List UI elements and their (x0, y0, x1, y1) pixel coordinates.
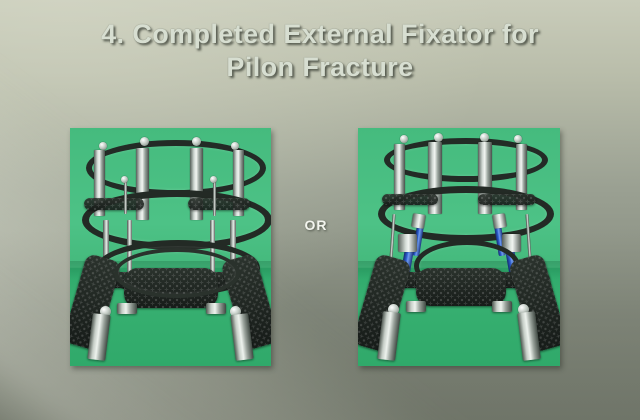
ring-bolt (514, 135, 522, 143)
right-fixator-assembly (358, 128, 560, 366)
ring-bolt (480, 133, 489, 142)
mount-block (406, 301, 426, 312)
left-figure-image (70, 128, 271, 366)
blue-strut-cap (411, 213, 426, 229)
base-arch-ring (114, 248, 240, 298)
pin-bolt (121, 176, 128, 183)
second-ring-plate (188, 198, 250, 210)
second-ring-plate (478, 194, 536, 205)
mount-block (206, 303, 226, 314)
slide-title: 4. Completed External Fixator for Pilon … (0, 18, 640, 84)
ring-bolt (434, 133, 443, 142)
blue-strut-cap (492, 213, 507, 229)
fixation-pin (213, 180, 216, 216)
fixation-pin (124, 180, 127, 214)
mount-block (492, 301, 512, 312)
ring-bolt (140, 137, 149, 146)
pin-bolt (210, 176, 217, 183)
ring-bolt (192, 137, 201, 146)
ring-bolt (231, 142, 239, 150)
second-ring-plate (382, 194, 438, 205)
right-figure-image (358, 128, 560, 366)
second-ring-plate (84, 198, 144, 210)
blue-strut-cap (398, 234, 417, 252)
ring-bolt (99, 142, 107, 150)
left-fixator-assembly (70, 128, 271, 366)
ring-bolt (400, 135, 408, 143)
slide-canvas: 4. Completed External Fixator for Pilon … (0, 0, 640, 420)
or-connector-label: OR (290, 217, 342, 233)
mount-block (117, 303, 137, 314)
